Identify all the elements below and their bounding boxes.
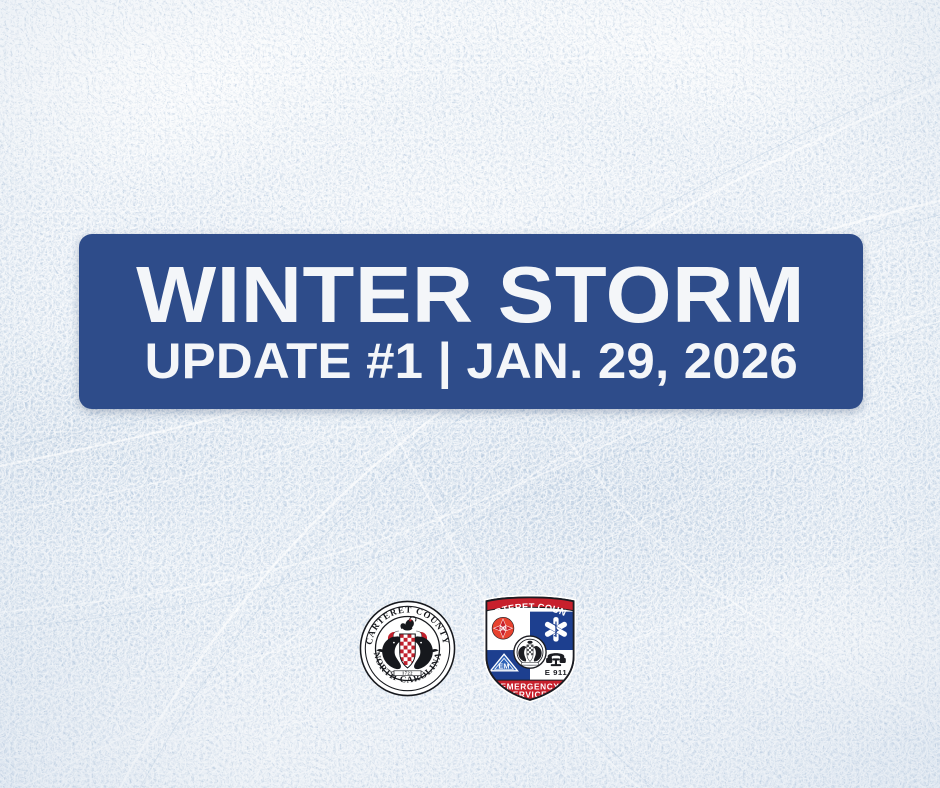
title-banner: WINTER STORM UPDATE #1 | JAN. 29, 2026 xyxy=(79,234,863,409)
subhead-text: UPDATE #1 | JAN. 29, 2026 xyxy=(144,336,797,386)
county-seal-icon: CARTERET COUNTY NORTH CAROLINA xyxy=(359,600,456,697)
fire-maltese-cross-icon: FM xyxy=(492,617,514,639)
svg-text:1722: 1722 xyxy=(401,670,412,675)
emergency-services-badge-icon: CARTERET COUNTY EMERGENCY SERVICES FM xyxy=(478,594,582,703)
headline-text: WINTER STORM xyxy=(136,257,805,334)
badge-center-seal-icon xyxy=(513,636,545,668)
svg-text:EM: EM xyxy=(498,661,509,670)
e911-label: E 911 xyxy=(544,667,567,676)
svg-text:FM: FM xyxy=(499,626,507,632)
logo-row: CARTERET COUNTY NORTH CAROLINA xyxy=(0,592,940,704)
winter-storm-announcement-graphic: WINTER STORM UPDATE #1 | JAN. 29, 2026 C… xyxy=(0,0,940,788)
